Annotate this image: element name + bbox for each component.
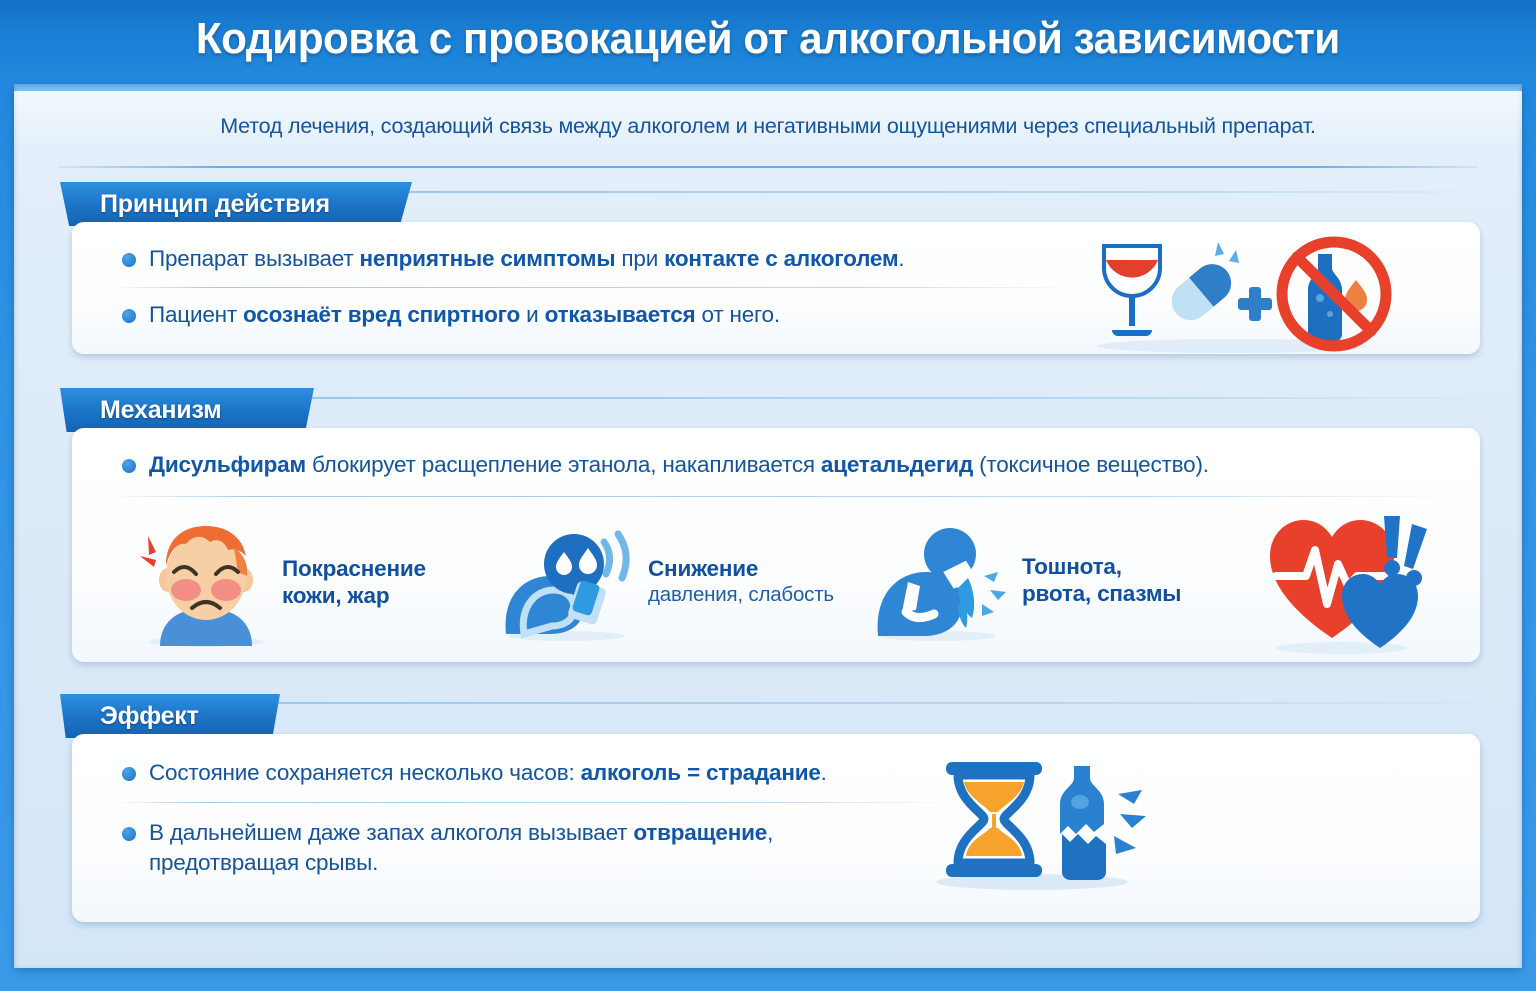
section-1-rule <box>374 191 1479 193</box>
section-1-ribbon[interactable]: Принцип действия <box>60 182 412 226</box>
bullet-text: Препарат вызывает неприятные симптомы пр… <box>149 244 904 274</box>
section-3-card: Состояние сохраняется несколько часов: а… <box>72 734 1480 922</box>
section-2-ribbon[interactable]: Механизм <box>60 388 314 432</box>
bullet-dot-icon <box>122 253 136 267</box>
bullet-item: Пациент осознаёт вред спиртного и отказы… <box>122 300 1122 330</box>
bullet-dot-icon <box>122 459 136 473</box>
bullet-dot-icon <box>122 767 136 781</box>
section-1-title: Принцип действия <box>100 190 330 219</box>
symptom-label-line1: Снижение <box>648 555 834 582</box>
section-2-title: Механизм <box>100 396 221 425</box>
infographic-poster: Кодировка с провокацией от алкогольной з… <box>0 0 1536 991</box>
card-divider <box>122 802 942 803</box>
heartbeat-alert-icon <box>1262 506 1432 654</box>
bullet-item: Препарат вызывает неприятные симптомы пр… <box>122 244 1122 274</box>
bullet-text: В дальнейшем даже запах алкоголя вызывае… <box>149 818 773 877</box>
vomiting-person-icon <box>872 520 1014 640</box>
symptom-item: Тошнота, рвота, спазмы <box>872 520 1181 640</box>
hourglass-broken-bottle-icon <box>922 752 1152 892</box>
bullet-item: В дальнейшем даже запах алкоголя вызывае… <box>122 818 1022 877</box>
bullet-dot-icon <box>122 827 136 841</box>
content-panel: Метод лечения, создающий связь между алк… <box>14 84 1522 968</box>
card-divider <box>122 287 1062 288</box>
section-2-rule <box>276 397 1479 399</box>
bullet-text: Пациент осознаёт вред спиртного и отказы… <box>149 300 780 330</box>
symptom-label-line2: давления, слабость <box>648 582 834 607</box>
symptom-label-line2: рвота, спазмы <box>1022 580 1181 607</box>
symptom-item: Покраснение кожи, жар <box>134 518 426 646</box>
section-1-card: Препарат вызывает неприятные симптомы пр… <box>72 222 1480 354</box>
symptom-item <box>1262 506 1432 654</box>
dizzy-person-icon <box>500 522 640 640</box>
poster-header: Кодировка с провокацией от алкогольной з… <box>0 0 1536 78</box>
card-divider <box>122 496 1432 497</box>
symptom-label-line2: кожи, жар <box>282 582 426 609</box>
bullet-text: Состояние сохраняется несколько часов: а… <box>149 758 827 788</box>
section-3-rule <box>244 702 1479 704</box>
symptom-label-line1: Тошнота, <box>1022 553 1181 580</box>
section-2-card: Дисульфирам блокирует расщепление этанол… <box>72 428 1480 662</box>
symptom-item: Снижение давления, слабость <box>500 522 834 640</box>
page-title: Кодировка с провокацией от алкогольной з… <box>196 14 1340 64</box>
symptom-label-line1: Покраснение <box>282 555 426 582</box>
bullet-text: Дисульфирам блокирует расщепление этанол… <box>149 450 1209 480</box>
intro-divider <box>58 166 1478 168</box>
flushed-face-icon <box>134 518 274 646</box>
bullet-dot-icon <box>122 309 136 323</box>
bullet-item: Дисульфирам блокирует расщепление этанол… <box>122 450 1442 480</box>
wine-glass-pill-no-bottle-icon <box>1082 228 1382 354</box>
section-3-title: Эффект <box>100 702 199 731</box>
intro-text: Метод лечения, создающий связь между алк… <box>14 114 1522 139</box>
section-3-ribbon[interactable]: Эффект <box>60 694 280 738</box>
